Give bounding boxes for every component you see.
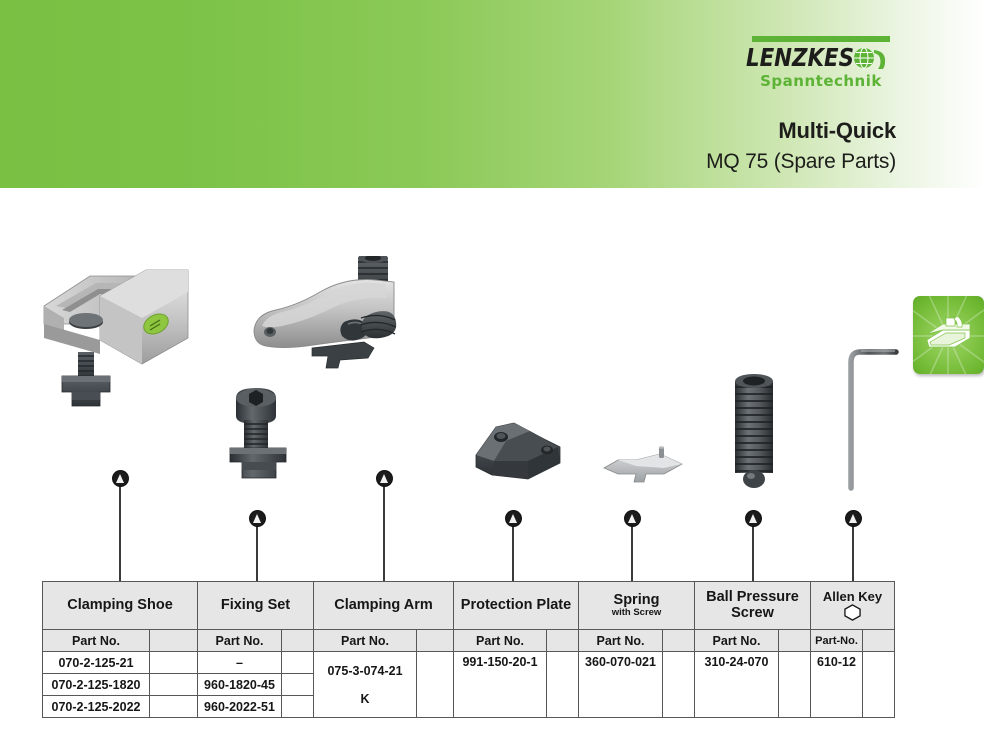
group-header-spring: Spring with Screw xyxy=(579,582,695,630)
subheader-blank-fixing-set xyxy=(282,630,314,652)
group-header-fixing-set: Fixing Set xyxy=(198,582,314,630)
subheader-part-no-clamping-shoe: Part No. xyxy=(43,630,150,652)
cell-fixing-set-qty-1 xyxy=(282,652,314,674)
group-header-protection-plate: Protection Plate xyxy=(454,582,579,630)
marker-allen-key xyxy=(846,511,861,526)
cell-fixing-set-1: – xyxy=(198,652,282,674)
marker-protection-plate xyxy=(506,511,521,526)
allen-key-photo xyxy=(838,346,908,496)
marker-ball-pressure-screw xyxy=(746,511,761,526)
cell-allen-key-1: 610-12 xyxy=(811,652,863,718)
subheader-blank-clamping-shoe xyxy=(150,630,198,652)
cell-clamping-shoe-qty-1 xyxy=(150,652,198,674)
group-header-clamping-arm: Clamping Arm xyxy=(314,582,454,630)
subheader-part-no-protection-plate: Part No. xyxy=(454,630,547,652)
cell-ball-pressure-screw-qty-1 xyxy=(779,652,811,718)
cell-protection-plate-qty-1 xyxy=(547,652,579,718)
page-header: LENZKES Spanntechnik Multi-Quick MQ xyxy=(0,0,984,188)
cell-clamping-shoe-qty-2 xyxy=(150,674,198,696)
cell-spring-qty-1 xyxy=(663,652,695,718)
leader-line-protection-plate xyxy=(512,518,514,588)
cell-clamping-arm-1: 075-3-074-21 K xyxy=(314,652,417,718)
cell-fixing-set-qty-3 xyxy=(282,696,314,718)
subheader-part-no-ball-pressure-screw: Part No. xyxy=(695,630,779,652)
cell-fixing-set-qty-2 xyxy=(282,674,314,696)
marker-clamping-arm xyxy=(377,471,392,486)
leader-line-fixing-set xyxy=(256,518,258,588)
product-illustrations xyxy=(0,188,984,588)
cell-fixing-set-3: 960-2022-51 xyxy=(198,696,282,718)
leader-line-ball-pressure-screw xyxy=(752,518,754,588)
logo-top-bar xyxy=(752,36,890,42)
cell-clamping-arm-qty-1 xyxy=(417,652,454,718)
svg-text:LENZKES: LENZKES xyxy=(746,44,854,72)
leader-line-spring xyxy=(631,518,633,588)
subheader-blank-ball-pressure-screw xyxy=(779,630,811,652)
group-header-spring-sublabel: with Screw xyxy=(581,608,692,618)
logo-tagline: Spanntechnik xyxy=(746,72,896,90)
cell-ball-pressure-screw-1: 310-24-070 xyxy=(695,652,779,718)
marker-fixing-set xyxy=(250,511,265,526)
fixing-set-photo xyxy=(220,386,300,484)
table-group-header-row: Clamping Shoe Fixing Set Clamping Arm Pr… xyxy=(43,582,895,630)
group-header-allen-key-label: Allen Key xyxy=(823,589,882,604)
page-subtitle: MQ 75 (Spare Parts) xyxy=(706,150,896,174)
group-header-clamping-shoe: Clamping Shoe xyxy=(43,582,198,630)
logo-wordmark: LENZKES xyxy=(746,44,896,72)
cell-clamping-arm-line1: 075-3-074-21 xyxy=(316,664,414,678)
subheader-part-no-clamping-arm: Part No. xyxy=(314,630,417,652)
leader-line-allen-key xyxy=(852,518,854,588)
subheader-blank-allen-key xyxy=(863,630,895,652)
ball-pressure-screw-photo xyxy=(727,373,781,493)
cell-clamping-shoe-qty-3 xyxy=(150,696,198,718)
cell-protection-plate-1: 991-150-20-1 xyxy=(454,652,547,718)
group-header-allen-key: Allen Key xyxy=(811,582,895,630)
subheader-blank-clamping-arm xyxy=(417,630,454,652)
protection-plate-photo xyxy=(470,417,570,485)
leader-line-clamping-arm xyxy=(383,478,385,588)
leader-line-clamping-shoe xyxy=(119,478,121,588)
marker-clamping-shoe xyxy=(113,471,128,486)
marker-spring xyxy=(625,511,640,526)
group-header-spring-label: Spring xyxy=(614,592,660,608)
cell-clamping-shoe-1: 070-2-125-21 xyxy=(43,652,150,674)
subheader-blank-spring xyxy=(663,630,695,652)
spring-photo xyxy=(602,446,694,490)
cell-spring-1: 360-070-021 xyxy=(579,652,663,718)
cell-clamping-arm-line2: K xyxy=(316,692,414,706)
subheader-part-no-fixing-set: Part No. xyxy=(198,630,282,652)
subheader-blank-protection-plate xyxy=(547,630,579,652)
group-header-ball-pressure-screw: Ball Pressure Screw xyxy=(695,582,811,630)
clamping-shoe-photo xyxy=(38,260,228,480)
table-subheader-row: Part No. Part No. Part No. Part No. Part… xyxy=(43,630,895,652)
header-content: LENZKES Spanntechnik Multi-Quick MQ xyxy=(476,0,896,188)
cell-clamping-shoe-2: 070-2-125-1820 xyxy=(43,674,150,696)
spare-parts-table: Clamping Shoe Fixing Set Clamping Arm Pr… xyxy=(42,581,895,718)
hexagon-icon xyxy=(843,604,862,621)
cell-allen-key-qty-1 xyxy=(863,652,895,718)
subheader-part-no-allen-key: Part-No. xyxy=(811,630,863,652)
cell-clamping-shoe-3: 070-2-125-2022 xyxy=(43,696,150,718)
subheader-part-no-spring: Part No. xyxy=(579,630,663,652)
cell-fixing-set-2: 960-1820-45 xyxy=(198,674,282,696)
page-title: Multi-Quick xyxy=(778,118,896,144)
clamping-arm-photo xyxy=(248,256,418,386)
table-row: 070-2-125-21 – 075-3-074-21 K 991-150-20… xyxy=(43,652,895,674)
company-logo: LENZKES Spanntechnik xyxy=(746,36,896,94)
